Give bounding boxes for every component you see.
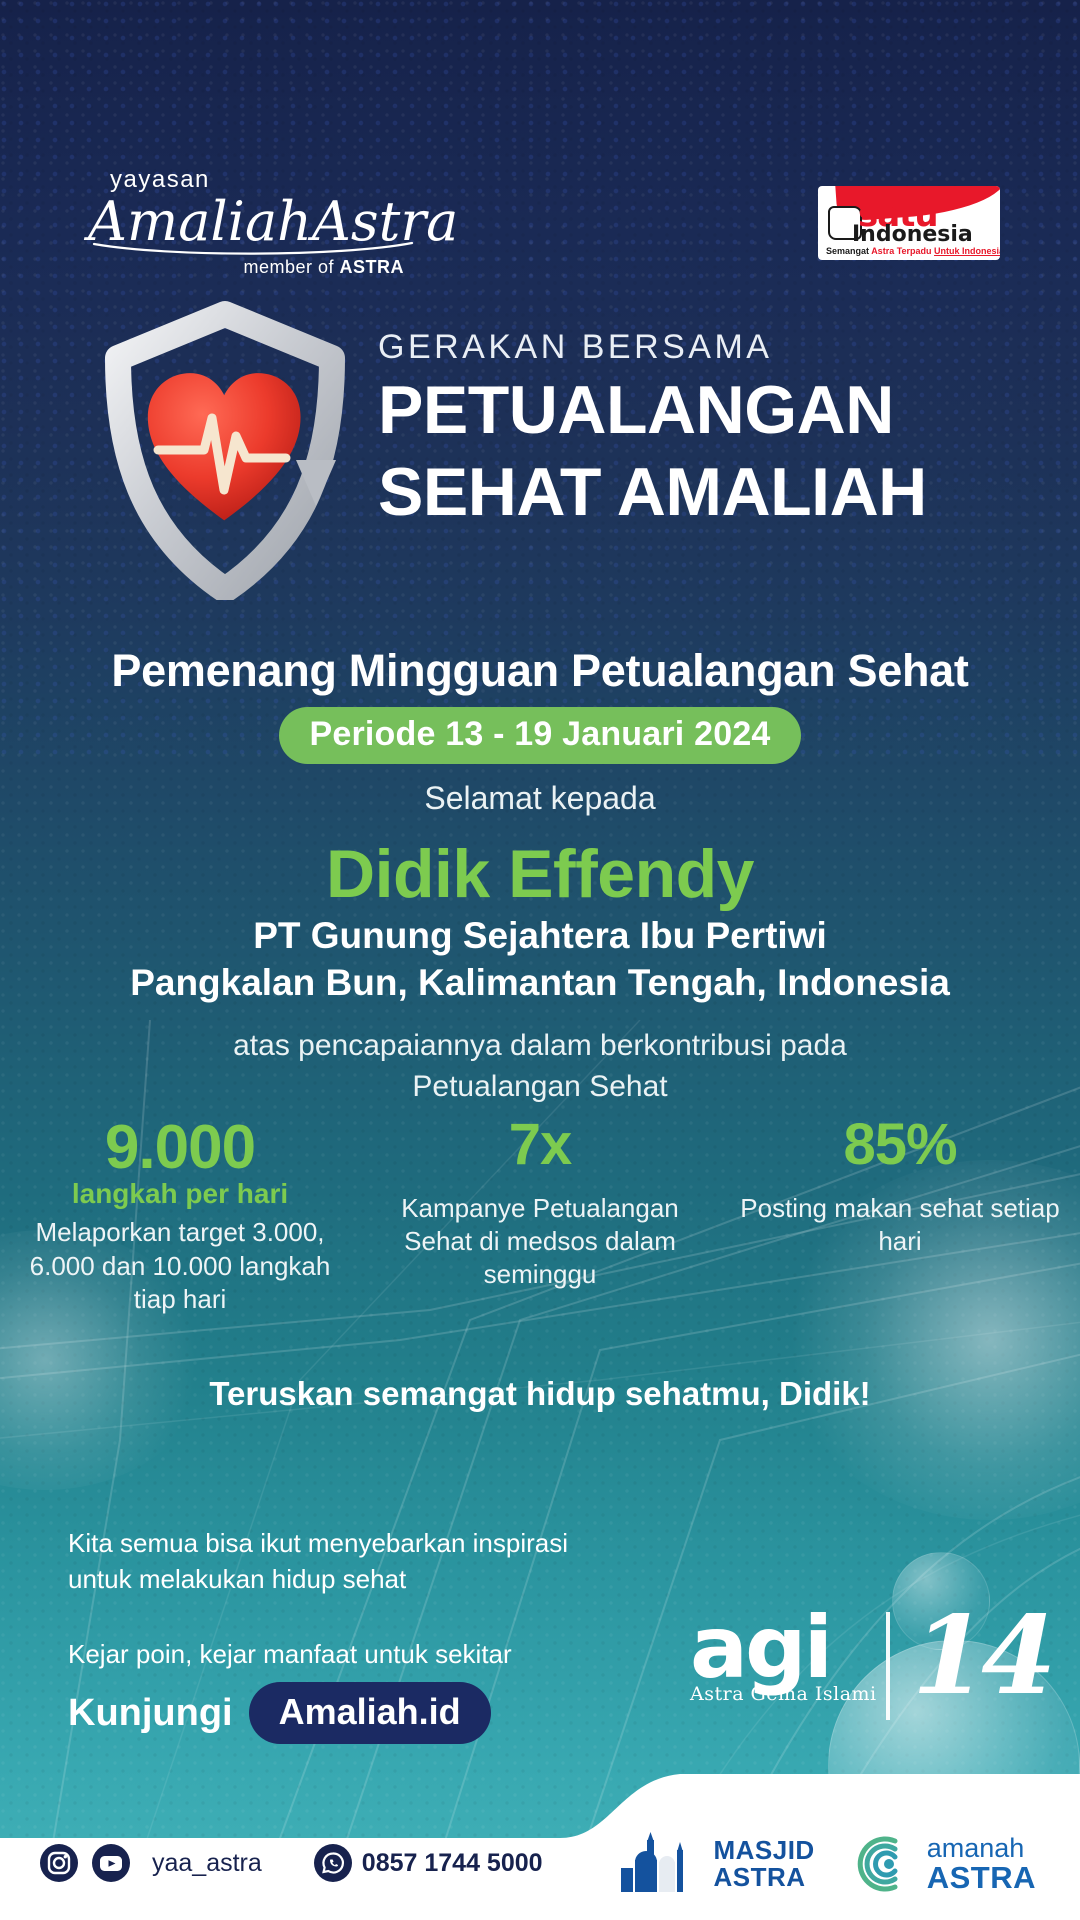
satu-indonesia-logo: satu Indonesia Semangat Astra Terpadu Un…	[818, 186, 1000, 260]
cta-spacer	[68, 1598, 628, 1636]
stat-item-campaign: 7x Kampanye Petualangan Sehat di medsos …	[360, 1115, 720, 1316]
logo-yayasan-label: yayasan	[110, 168, 418, 192]
agi-divider	[886, 1612, 890, 1720]
website-pill-button[interactable]: Amaliah.id	[249, 1682, 491, 1744]
stats-row: 9.000 langkah per hari Melaporkan target…	[0, 1115, 1080, 1316]
agi-logo: agi Astra Gema Islami 14	[690, 1610, 1020, 1740]
hero-title-line1: PETUALANGAN	[378, 374, 1018, 446]
award-heading: Pemenang Mingguan Petualangan Sehat	[0, 645, 1080, 697]
congrats-label: Selamat kepada	[0, 780, 1080, 817]
amanah-line1: amanah	[927, 1835, 1036, 1862]
hero-text-block: GERAKAN BERSAMA PETUALANGAN SEHAT AMALIA…	[378, 330, 1018, 528]
cta-line-2: untuk melakukan hidup sehat	[68, 1561, 628, 1597]
stat-item-posting: 85% Posting makan sehat setiap hari	[720, 1115, 1080, 1316]
award-reason-line1: atas pencapaiannya dalam berkontribusi p…	[0, 1025, 1080, 1066]
instagram-icon[interactable]	[40, 1844, 78, 1882]
hero-title-line2: SEHAT AMALIAH	[378, 456, 1018, 528]
satu-tagline-2: Astra Terpadu	[871, 246, 934, 256]
masjid-line1: MASJID	[713, 1837, 814, 1864]
stat-description: Kampanye Petualangan Sehat di medsos dal…	[370, 1192, 710, 1292]
winner-name: Didik Effendy	[0, 835, 1080, 913]
amanah-astra-logo: amanah ASTRA	[855, 1833, 1036, 1895]
logo-amaliah-wordmark: AmaliahAstra	[88, 194, 418, 251]
cta-line-3: Kejar poin, kejar manfaat untuk sekitar	[68, 1636, 628, 1672]
amanah-astra-text: amanah ASTRA	[927, 1835, 1036, 1893]
amaliah-astra-logo: yayasan AmaliahAstra member of ASTRA	[88, 168, 418, 278]
footer-social-group: yaa_astra 0857 1744 5000	[40, 1844, 543, 1882]
phone-number: 0857 1744 5000	[362, 1849, 543, 1878]
cta-line-1: Kita semua bisa ikut menyebarkan inspira…	[68, 1525, 628, 1561]
poster-canvas: yayasan AmaliahAstra member of ASTRA sat…	[0, 0, 1080, 1920]
stat-subtitle: langkah per hari	[10, 1178, 350, 1210]
masjid-astra-text: MASJID ASTRA	[713, 1837, 814, 1892]
satu-tagline-3: Untuk Indonesia	[934, 246, 1000, 256]
cta-block: Kita semua bisa ikut menyebarkan inspira…	[68, 1525, 628, 1744]
visit-label: Kunjungi	[68, 1692, 233, 1735]
stat-description: Posting makan sehat setiap hari	[730, 1192, 1070, 1259]
visit-row: Kunjungi Amaliah.id	[68, 1682, 628, 1744]
amanah-line2: ASTRA	[927, 1862, 1036, 1893]
footer-partner-logos: MASJID ASTRA amanah ASTRA	[617, 1832, 1036, 1896]
award-reason: atas pencapaiannya dalam berkontribusi p…	[0, 1025, 1080, 1108]
period-badge-wrap: Periode 13 - 19 Januari 2024	[0, 707, 1080, 764]
member-prefix: member of	[243, 257, 339, 277]
hero-kicker: GERAKAN BERSAMA	[378, 330, 1018, 364]
stat-description: Melaporkan target 3.000, 6.000 dan 10.00…	[10, 1216, 350, 1316]
stat-number: 85%	[730, 1115, 1070, 1176]
award-reason-line2: Petualangan Sehat	[0, 1066, 1080, 1107]
winner-company: PT Gunung Sejahtera Ibu Pertiwi	[0, 915, 1080, 957]
agi-anniversary-number: 14	[912, 1602, 1050, 1710]
whatsapp-group: 0857 1744 5000	[314, 1844, 543, 1882]
stat-number: 9.000	[10, 1115, 350, 1180]
mosque-icon	[617, 1832, 703, 1896]
satu-tagline: Semangat Astra Terpadu Untuk Indonesia	[826, 246, 1000, 256]
logo-member-of-astra: member of ASTRA	[88, 257, 404, 278]
whatsapp-icon[interactable]	[314, 1844, 352, 1882]
closing-message: Teruskan semangat hidup sehatmu, Didik!	[0, 1375, 1080, 1413]
period-badge: Periode 13 - 19 Januari 2024	[279, 707, 800, 764]
amanah-rings-icon	[855, 1833, 917, 1895]
hero-section: GERAKAN BERSAMA PETUALANGAN SEHAT AMALIA…	[0, 310, 1080, 610]
member-brand: ASTRA	[340, 257, 405, 277]
masjid-line2: ASTRA	[713, 1864, 814, 1891]
social-handle: yaa_astra	[152, 1849, 262, 1878]
winner-location: Pangkalan Bun, Kalimantan Tengah, Indone…	[0, 962, 1080, 1004]
satu-indonesia-wordmark: Indonesia	[852, 224, 973, 246]
stat-number: 7x	[370, 1115, 710, 1176]
heart-shield-icon	[100, 300, 350, 600]
masjid-astra-logo: MASJID ASTRA	[617, 1832, 814, 1896]
satu-tagline-1: Semangat	[826, 246, 871, 256]
footer-bar: yaa_astra 0857 1744 5000	[0, 1810, 1080, 1920]
youtube-icon[interactable]	[92, 1844, 130, 1882]
stat-item-steps: 9.000 langkah per hari Melaporkan target…	[0, 1115, 360, 1316]
